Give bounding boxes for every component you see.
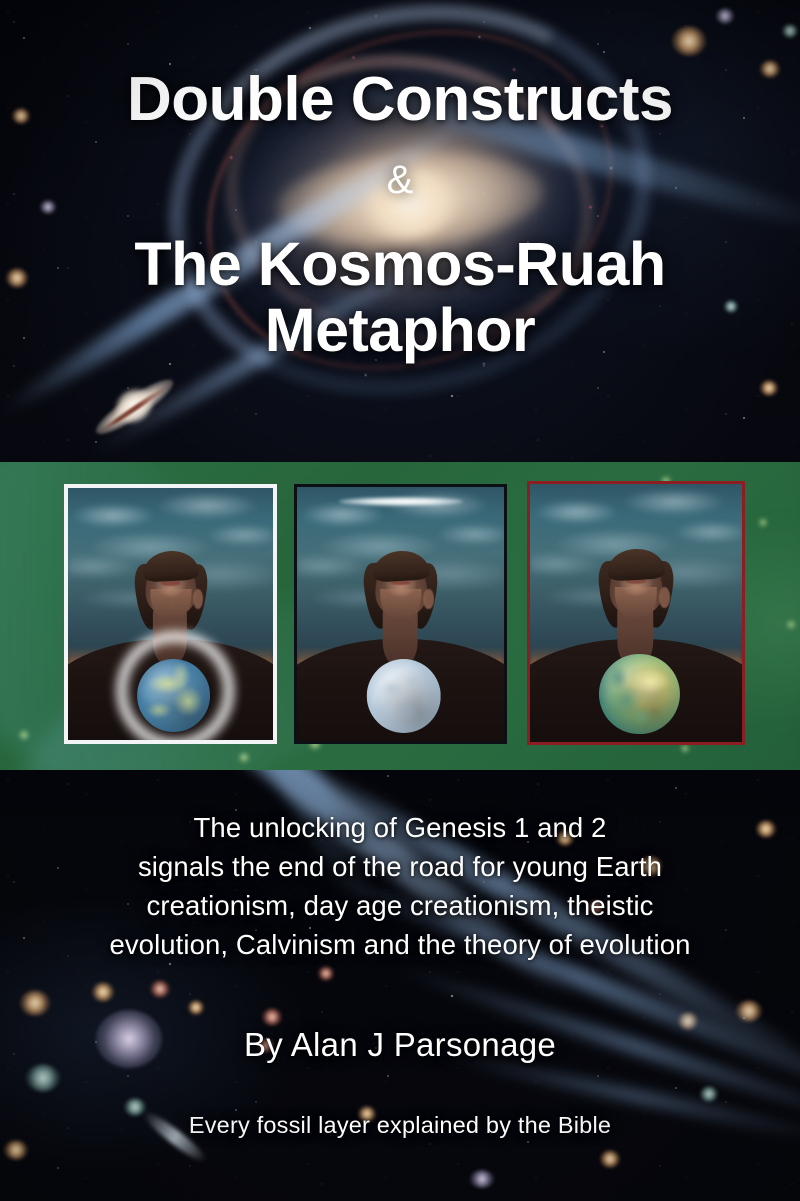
photo-panel-1 [64, 484, 277, 744]
subtitle-line-2: signals the end of the road for young Ea… [0, 847, 800, 886]
distant-galaxy-icon [20, 990, 50, 1016]
subtitle-line-1: The unlocking of Genesis 1 and 2 [0, 808, 800, 847]
pale-moon-globe [366, 659, 441, 734]
distant-galaxy-icon [700, 1086, 718, 1102]
photo-panel-3 [527, 481, 745, 745]
book-cover: Double Constructs & The Kosmos-Ruah Meta… [0, 0, 800, 1201]
ampersand: & [0, 158, 800, 203]
distant-galaxy-icon [470, 1170, 494, 1188]
distant-galaxy-icon [150, 980, 170, 998]
subtitle: The unlocking of Genesis 1 and 2 signals… [0, 808, 800, 964]
panel-2-photo [297, 487, 504, 741]
title-line-1: Double Constructs [0, 64, 800, 135]
photo-panel-2 [294, 484, 507, 744]
author-line: By Alan J Parsonage [0, 1026, 800, 1064]
distant-galaxy-icon [4, 1140, 28, 1160]
panel-3-photo [530, 484, 742, 742]
distant-galaxy-icon [26, 1064, 60, 1092]
title-line-2b: Metaphor [0, 298, 800, 364]
distant-galaxy-icon [318, 966, 334, 981]
distant-galaxy-icon [782, 24, 798, 38]
blue-green-globe [137, 659, 211, 733]
distant-galaxy-icon [92, 982, 114, 1002]
panel-1-photo [68, 488, 273, 740]
subtitle-line-4: evolution, Calvinism and the theory of e… [0, 925, 800, 964]
distant-galaxy-icon [600, 1150, 620, 1168]
subtitle-line-3: creationism, day age creationism, theist… [0, 886, 800, 925]
title-line-2a: The Kosmos-Ruah [0, 232, 800, 298]
distant-galaxy-icon [672, 26, 706, 56]
distant-galaxy-icon [262, 1008, 282, 1026]
distant-galaxy-icon [760, 380, 778, 396]
title-line-2: The Kosmos-Ruah Metaphor [0, 232, 800, 364]
distant-galaxy-icon [736, 1000, 762, 1022]
distant-galaxy-icon [188, 1000, 204, 1015]
distant-galaxy-icon [716, 8, 734, 24]
tagline: Every fossil layer explained by the Bibl… [0, 1112, 800, 1139]
green-gold-earth-globe [599, 654, 680, 735]
